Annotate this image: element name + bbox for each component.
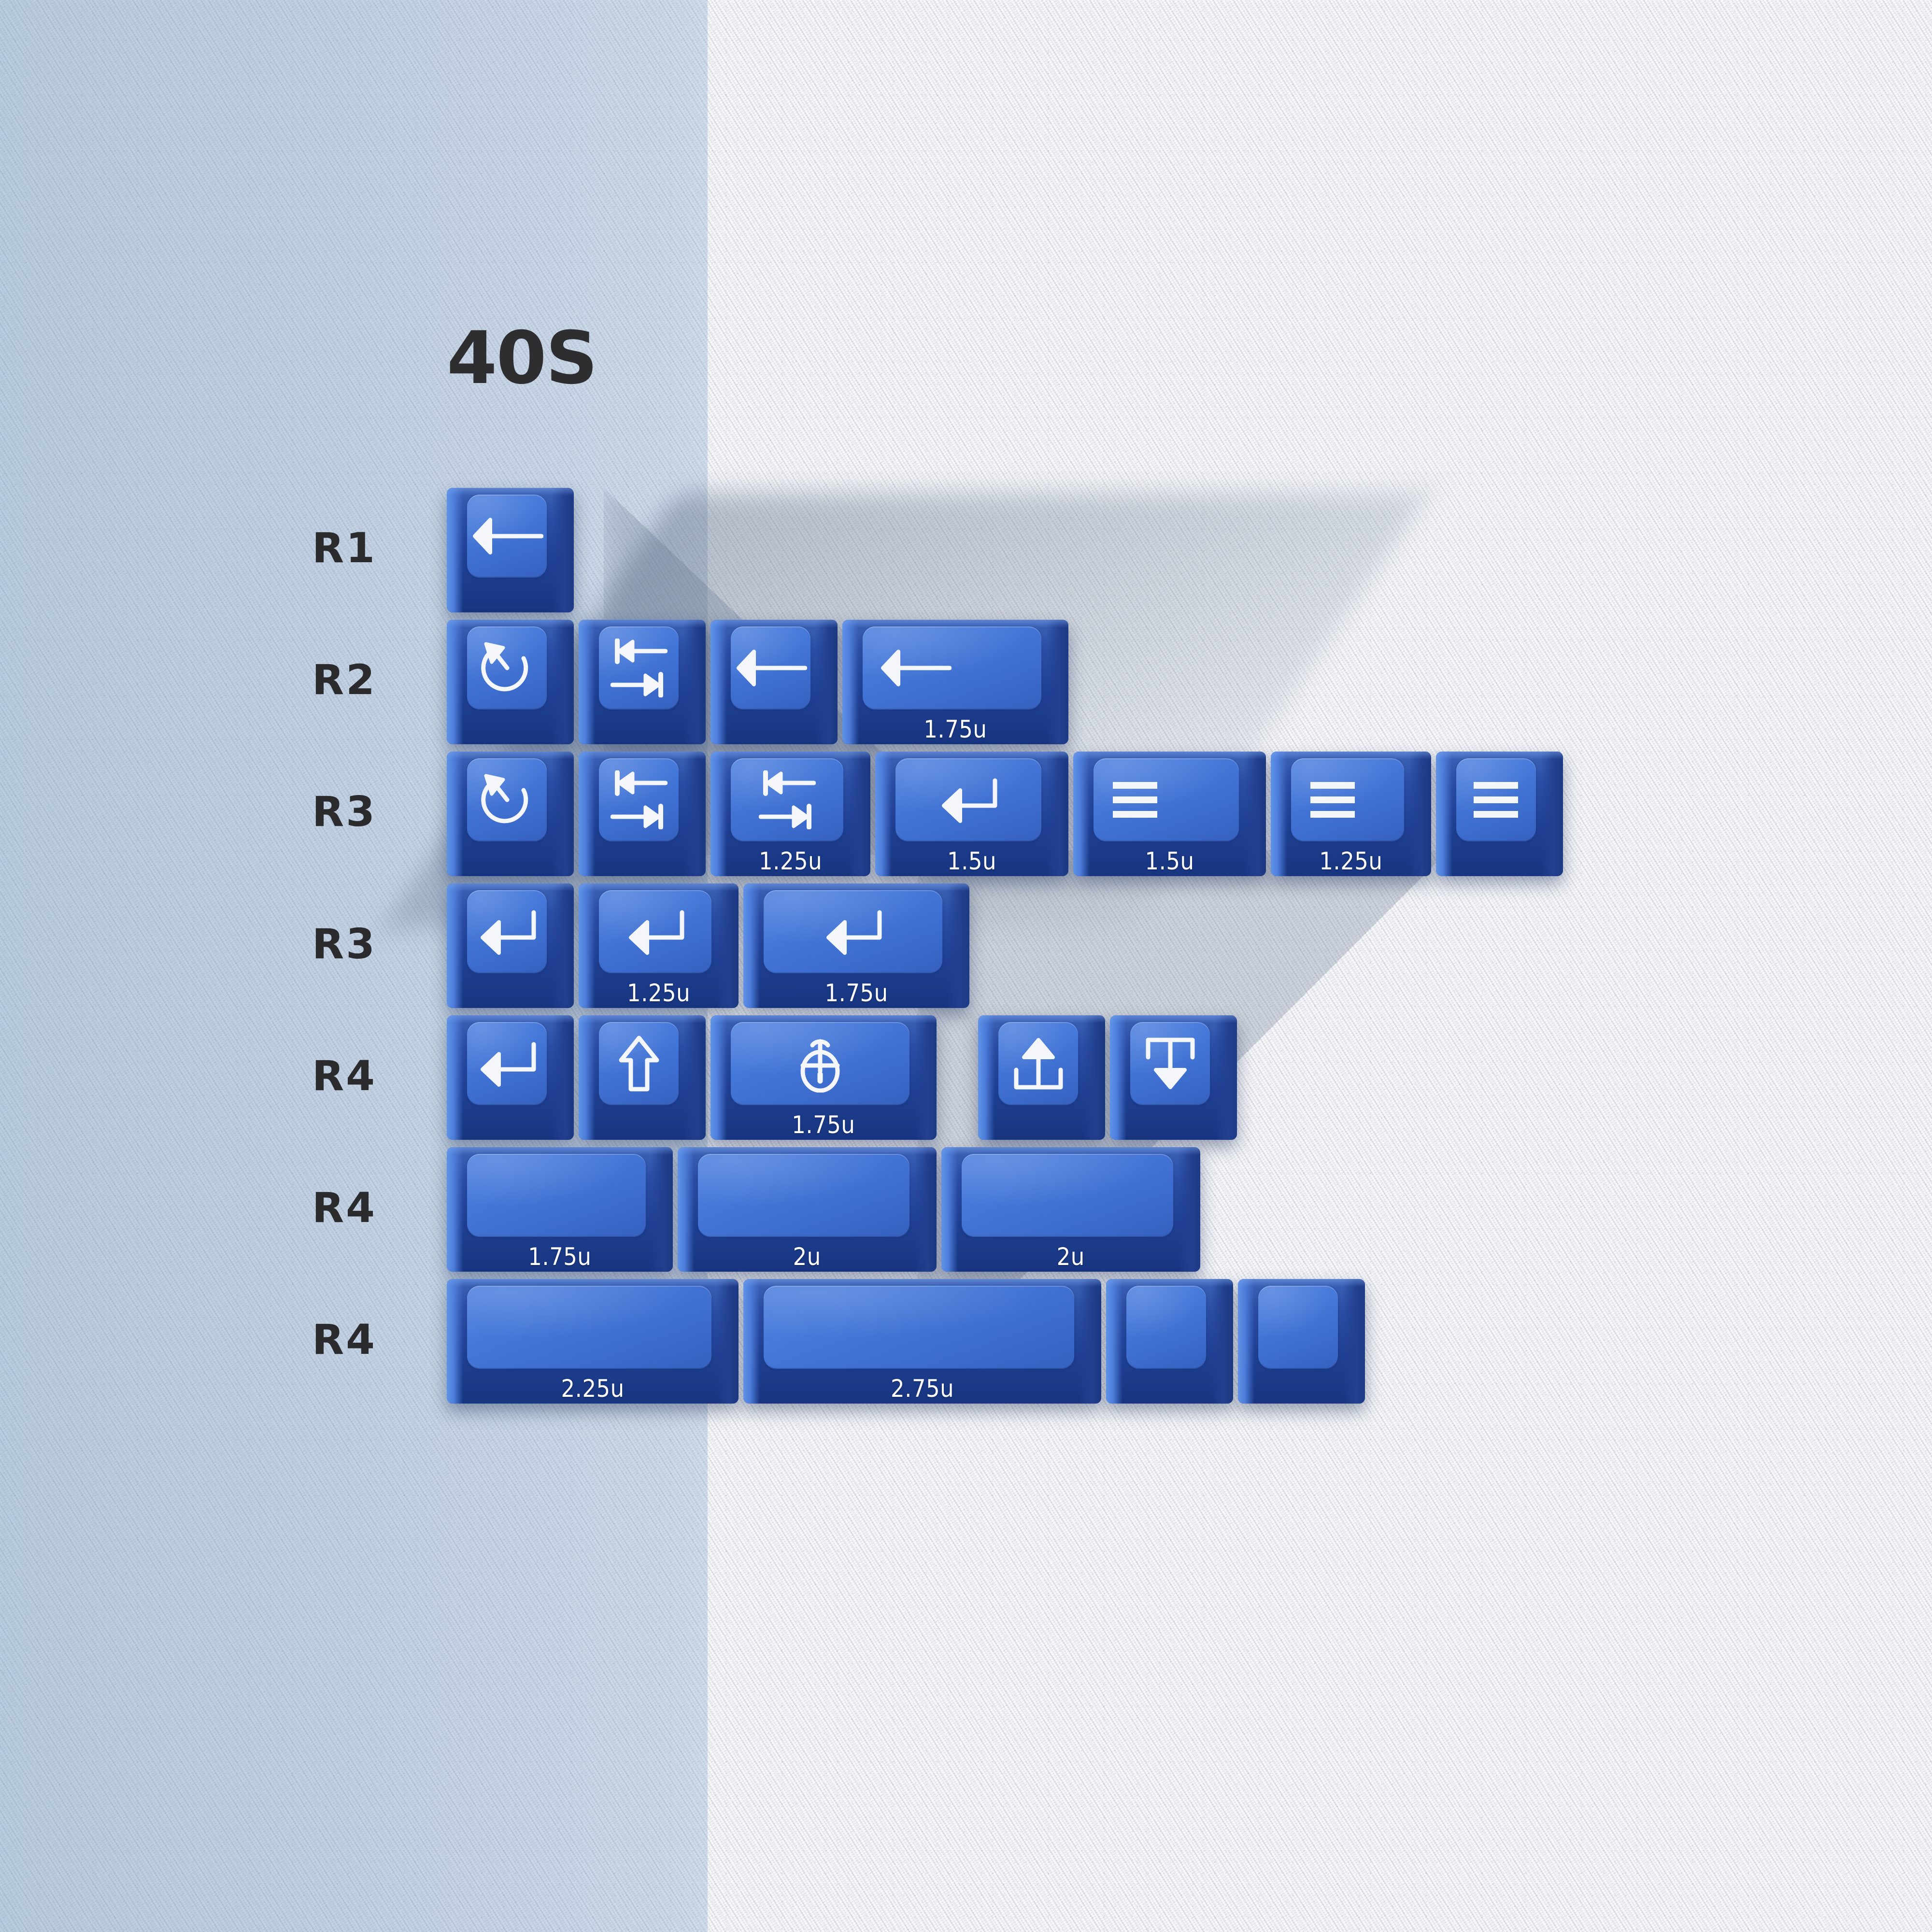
keycap-right-bevel	[815, 620, 838, 744]
keycap[interactable]	[1436, 752, 1563, 876]
keycap-right-bevel	[683, 752, 706, 876]
page-title: 40S	[447, 316, 597, 400]
keycap-size-label: 1.25u	[1271, 847, 1431, 875]
keycap-left-bevel	[579, 1015, 595, 1140]
keycap-left-bevel	[447, 1015, 463, 1140]
keycap[interactable]: 1.5u	[1073, 752, 1266, 876]
keycap-left-bevel	[1110, 1015, 1126, 1140]
keycap[interactable]: 1.75u	[447, 1147, 673, 1272]
keycap-size-label: 1.75u	[842, 715, 1068, 743]
keycap-top-face[interactable]	[731, 1022, 909, 1105]
row-label-r3-b: R3	[208, 920, 377, 968]
keycap-right-bevel	[683, 1015, 706, 1140]
enter-arrow-icon	[477, 1040, 538, 1087]
keycap-top-face[interactable]	[895, 758, 1041, 841]
enter-arrow-icon	[477, 909, 538, 955]
keycap[interactable]	[579, 752, 706, 876]
keycap-top-face[interactable]	[467, 758, 547, 841]
keycap-top-face[interactable]	[764, 1286, 1074, 1369]
keycap-top-face[interactable]	[698, 1154, 909, 1237]
keycap-right-bevel	[1211, 1279, 1233, 1404]
keycap-top-face[interactable]	[962, 1154, 1173, 1237]
keycap-size-label: 2.25u	[447, 1375, 739, 1403]
keycap-size-label: 1.5u	[1073, 847, 1266, 875]
keycap-left-bevel	[1106, 1279, 1122, 1404]
keycap-size-label: 1.75u	[743, 979, 969, 1007]
keycap-size-label: 1.75u	[710, 1111, 937, 1139]
rotate-ccw-icon	[481, 773, 533, 827]
backspace-arrow-icon	[879, 646, 952, 690]
keycap[interactable]	[710, 620, 838, 744]
keycap[interactable]	[447, 620, 574, 744]
keycap-top-face[interactable]	[731, 626, 810, 710]
keycap-right-bevel	[552, 1015, 574, 1140]
keycap-size-label: 2u	[941, 1243, 1200, 1271]
row-label-r4-b: R4	[208, 1184, 377, 1232]
menu-icon	[1471, 781, 1521, 819]
keycap-left-bevel	[1238, 1279, 1254, 1404]
row-label-r3-a: R3	[208, 788, 377, 836]
keycap[interactable]: 1.75u	[743, 883, 969, 1008]
keycap[interactable]	[579, 620, 706, 744]
shift-arrow-icon	[618, 1035, 660, 1092]
scene: 40S R1 R2 R3 R3 R4 R4 R4 1.75u	[0, 0, 1932, 1932]
keycap-right-bevel	[1541, 752, 1563, 876]
keycap[interactable]: 1.5u	[875, 752, 1068, 876]
keycap[interactable]	[1238, 1279, 1365, 1404]
keycap-top-face[interactable]	[467, 1154, 646, 1237]
keycap-left-bevel	[710, 620, 727, 744]
keycap-left-bevel	[447, 883, 463, 1008]
keycap[interactable]	[1106, 1279, 1233, 1404]
keycap-left-bevel	[978, 1015, 994, 1140]
keycap-right-bevel	[552, 752, 574, 876]
keycap-top-face[interactable]	[467, 1286, 711, 1369]
keycap[interactable]	[447, 883, 574, 1008]
keycap[interactable]	[447, 1015, 574, 1140]
keycap-top-face[interactable]	[467, 495, 547, 578]
keycap-top-face[interactable]	[863, 626, 1041, 710]
page-down-icon	[1143, 1035, 1197, 1092]
keycap-left-bevel	[579, 752, 595, 876]
enter-arrow-icon	[823, 909, 883, 955]
keycap-size-label: 2u	[678, 1243, 937, 1271]
keycap-top-face[interactable]	[731, 758, 843, 841]
keycap-top-face[interactable]	[467, 1022, 547, 1105]
keycap[interactable]	[447, 752, 574, 876]
keycap-right-bevel	[552, 488, 574, 612]
keycap-size-label: 1.5u	[875, 847, 1068, 875]
keycap-top-face[interactable]	[1094, 758, 1239, 841]
keycap-right-bevel	[1215, 1015, 1237, 1140]
backspace-arrow-icon	[735, 646, 807, 690]
keycap-left-bevel	[579, 620, 595, 744]
keycap-top-face[interactable]	[1130, 1022, 1210, 1105]
keycap-right-bevel	[552, 620, 574, 744]
keycap-left-bevel	[1436, 752, 1452, 876]
keycap-size-label: 1.75u	[447, 1243, 673, 1271]
keycap[interactable]: 1.25u	[1271, 752, 1431, 876]
keycap[interactable]: 2.75u	[743, 1279, 1101, 1404]
keycap-top-face[interactable]	[599, 626, 679, 710]
keycap-top-face[interactable]	[599, 758, 679, 841]
menu-icon	[1110, 781, 1160, 819]
keycap-right-bevel	[1343, 1279, 1365, 1404]
rotate-ccw-icon	[481, 641, 533, 695]
tab-icon	[759, 770, 816, 829]
keycap[interactable]: 1.25u	[710, 752, 870, 876]
tab-icon	[611, 770, 668, 829]
keycap-left-bevel	[447, 752, 463, 876]
keycap-top-face[interactable]	[1291, 758, 1404, 841]
row-label-r4-a: R4	[208, 1052, 377, 1100]
keycap[interactable]: 1.75u	[710, 1015, 937, 1140]
backspace-arrow-icon	[471, 514, 543, 558]
keycap-top-face[interactable]	[764, 890, 942, 973]
keycap[interactable]	[579, 1015, 706, 1140]
row-label-r2: R2	[208, 656, 377, 704]
keycap-size-label: 2.75u	[743, 1375, 1101, 1403]
keycap-size-label: 1.25u	[579, 979, 739, 1007]
keycap[interactable]: 1.75u	[842, 620, 1068, 744]
keycap-top-face[interactable]	[467, 626, 547, 710]
keycap-top-face[interactable]	[998, 1022, 1078, 1105]
keycap-right-bevel	[552, 883, 574, 1008]
row-label-r1: R1	[208, 524, 377, 572]
keycap-top-face[interactable]	[599, 1022, 679, 1105]
enter-arrow-icon	[938, 777, 999, 823]
keycap-left-bevel	[447, 620, 463, 744]
keycap[interactable]: 2.25u	[447, 1279, 739, 1404]
keycap-size-label: 1.25u	[710, 847, 870, 875]
keycap-left-bevel	[447, 488, 463, 612]
enter-arrow-icon	[625, 909, 686, 955]
keycap[interactable]	[1110, 1015, 1237, 1140]
keycap-top-face[interactable]	[1126, 1286, 1206, 1369]
keycap[interactable]: 2u	[941, 1147, 1200, 1272]
keycap[interactable]: 2u	[678, 1147, 937, 1272]
keycap[interactable]	[447, 488, 574, 612]
keycap-top-face[interactable]	[1456, 758, 1536, 841]
lock-icon	[798, 1035, 842, 1093]
tab-icon	[611, 639, 668, 697]
keycap-right-bevel	[683, 620, 706, 744]
page-up-icon	[1011, 1035, 1065, 1092]
menu-icon	[1307, 781, 1358, 819]
keycap-right-bevel	[1083, 1015, 1105, 1140]
keycap[interactable]: 1.25u	[579, 883, 739, 1008]
keycap-top-face[interactable]	[1258, 1286, 1338, 1369]
keycap-top-face[interactable]	[599, 890, 711, 973]
keycap-top-face[interactable]	[467, 890, 547, 973]
keycap[interactable]	[978, 1015, 1105, 1140]
row-label-r4-c: R4	[208, 1316, 377, 1364]
